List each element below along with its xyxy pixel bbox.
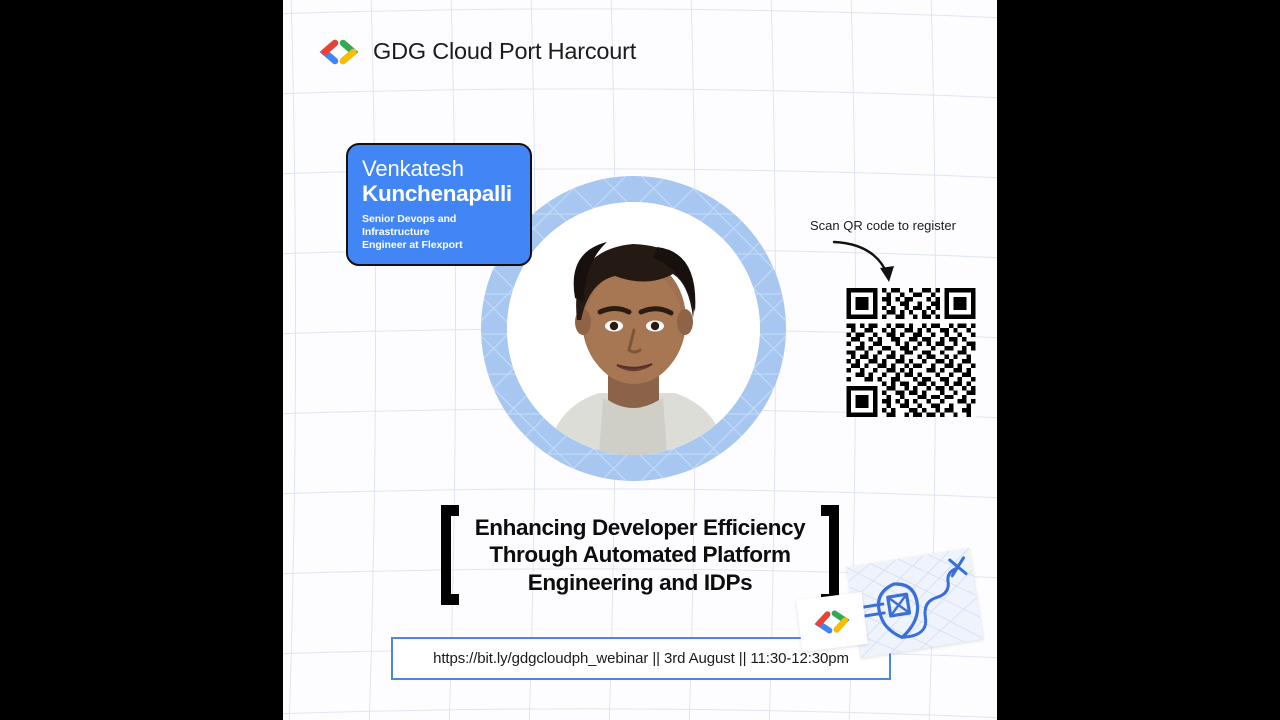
gdg-logo-icon (317, 39, 361, 65)
poster-header: GDG Cloud Port Harcourt (317, 38, 636, 65)
talk-title-line-1: Enhancing Developer Efficiency (475, 514, 806, 541)
qr-label: Scan QR code to register (810, 218, 956, 233)
qr-code-icon[interactable] (846, 288, 976, 417)
talk-title-line-2: Through Automated Platform (475, 541, 806, 568)
talk-title-line-3: Engineering and IDPs (475, 569, 806, 596)
speaker-role-line-1: Senior Devops and Infrastructure (362, 213, 516, 240)
portrait-image (507, 202, 760, 455)
registration-url-text: https://bit.ly/gdgcloudph_webinar || 3rd… (433, 650, 849, 667)
bracket-right-icon (821, 505, 839, 605)
talk-title: Enhancing Developer Efficiency Through A… (475, 514, 806, 596)
gdg-logo-icon (811, 608, 854, 637)
paper-card-gdg (796, 592, 868, 652)
bracket-left-icon (441, 505, 459, 605)
speaker-name-card: Venkatesh Kunchenapalli Senior Devops an… (346, 143, 532, 266)
page-title: GDG Cloud Port Harcourt (373, 38, 636, 65)
curved-arrow-icon (830, 236, 910, 288)
poster-canvas: GDG Cloud Port Harcourt (283, 0, 997, 720)
photo-frame (507, 202, 760, 455)
speaker-last-name: Kunchenapalli (362, 182, 516, 207)
speaker-first-name: Venkatesh (362, 157, 516, 181)
speaker-role-line-2: Engineer at Flexport (362, 239, 516, 252)
poster-stage: GDG Cloud Port Harcourt (0, 0, 1280, 720)
